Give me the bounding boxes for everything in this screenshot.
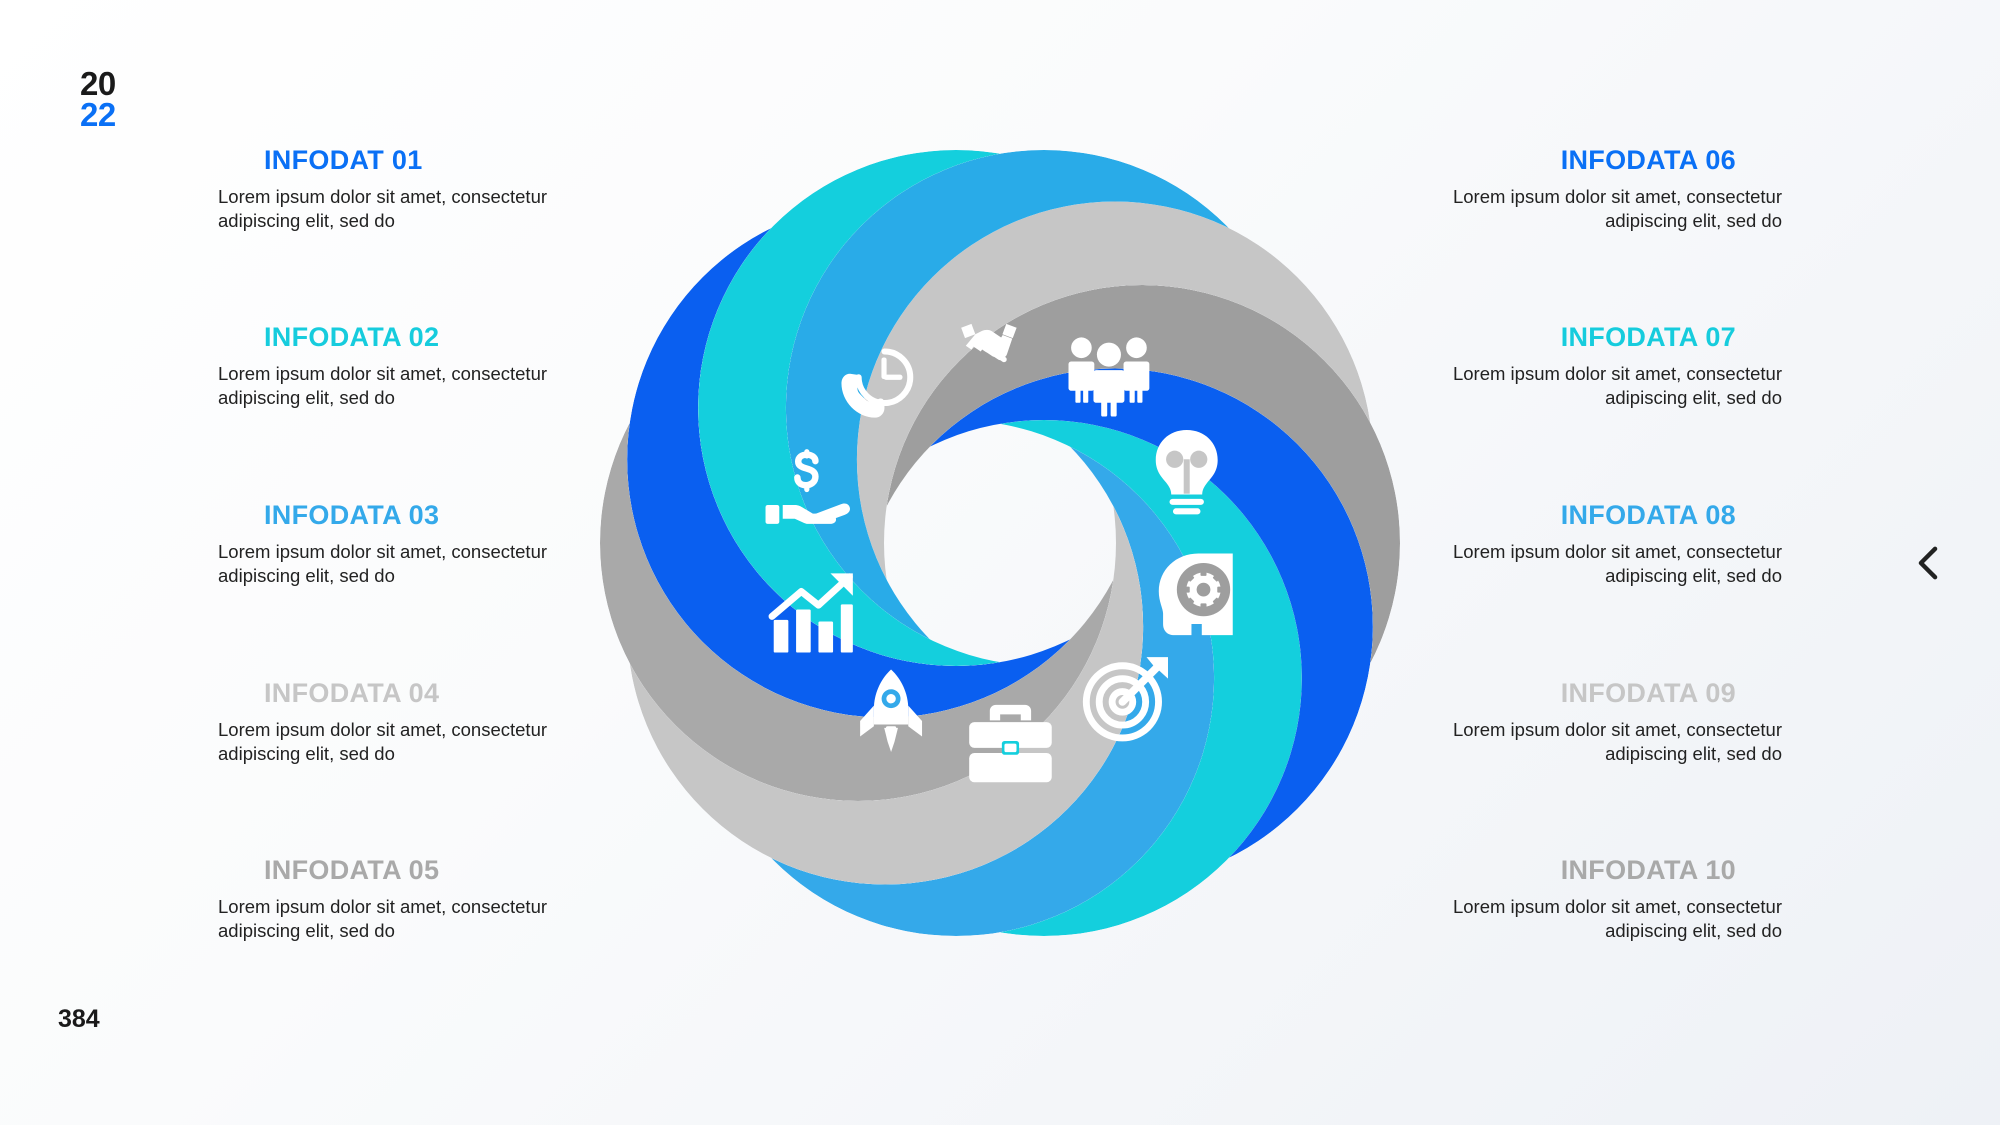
- chevron-left-icon[interactable]: [1908, 540, 1948, 586]
- info-item-title: INFODATA 03: [264, 500, 580, 531]
- year-top: 20: [80, 68, 116, 99]
- page-number: 384: [58, 1005, 100, 1034]
- info-item-body: Lorem ipsum dolor sit amet, consectetur …: [218, 895, 580, 944]
- info-item-title: INFODATA 02: [264, 322, 580, 353]
- petal-body: [857, 368, 1373, 884]
- head-gear-icon: [1159, 553, 1233, 635]
- info-item-title: INFODATA 07: [1420, 322, 1736, 353]
- info-item-body: Lorem ipsum dolor sit amet, consectetur …: [1420, 895, 1782, 944]
- info-item-10[interactable]: INFODATA 10Lorem ipsum dolor sit amet, c…: [1420, 855, 1840, 944]
- info-item-body: Lorem ipsum dolor sit amet, consectetur …: [218, 362, 580, 411]
- info-item-title: INFODATA 09: [1420, 678, 1736, 709]
- info-item-body: Lorem ipsum dolor sit amet, consectetur …: [218, 540, 580, 589]
- info-item-title: INFODATA 06: [1420, 145, 1736, 176]
- slide-canvas: 20 22 384 INFODAT 01Lorem ipsum dolor si…: [0, 0, 2000, 1125]
- info-item-body: Lorem ipsum dolor sit amet, consectetur …: [218, 185, 580, 234]
- info-item-title: INFODATA 04: [264, 678, 580, 709]
- info-item-02[interactable]: INFODATA 02Lorem ipsum dolor sit amet, c…: [160, 322, 580, 411]
- info-item-04[interactable]: INFODATA 04Lorem ipsum dolor sit amet, c…: [160, 678, 580, 767]
- info-item-01[interactable]: INFODAT 01Lorem ipsum dolor sit amet, co…: [160, 145, 580, 234]
- info-item-09[interactable]: INFODATA 09Lorem ipsum dolor sit amet, c…: [1420, 678, 1840, 767]
- year-bottom: 22: [80, 99, 116, 130]
- info-item-title: INFODATA 05: [264, 855, 580, 886]
- info-item-06[interactable]: INFODATA 06Lorem ipsum dolor sit amet, c…: [1420, 145, 1840, 234]
- info-item-05[interactable]: INFODATA 05Lorem ipsum dolor sit amet, c…: [160, 855, 580, 944]
- info-item-07[interactable]: INFODATA 07Lorem ipsum dolor sit amet, c…: [1420, 322, 1840, 411]
- info-item-body: Lorem ipsum dolor sit amet, consectetur …: [1420, 185, 1782, 234]
- petal-09[interactable]: [848, 359, 1382, 893]
- info-item-title: INFODATA 10: [1420, 855, 1736, 886]
- info-item-03[interactable]: INFODATA 03Lorem ipsum dolor sit amet, c…: [160, 500, 580, 589]
- info-item-body: Lorem ipsum dolor sit amet, consectetur …: [218, 718, 580, 767]
- info-item-body: Lorem ipsum dolor sit amet, consectetur …: [1420, 718, 1782, 767]
- info-item-body: Lorem ipsum dolor sit amet, consectetur …: [1420, 362, 1782, 411]
- info-item-title: INFODATA 08: [1420, 500, 1736, 531]
- year-badge: 20 22: [80, 68, 116, 131]
- pinwheel-diagram: [600, 143, 1400, 943]
- info-item-body: Lorem ipsum dolor sit amet, consectetur …: [1420, 540, 1782, 589]
- info-item-08[interactable]: INFODATA 08Lorem ipsum dolor sit amet, c…: [1420, 500, 1840, 589]
- info-item-title: INFODAT 01: [264, 145, 580, 176]
